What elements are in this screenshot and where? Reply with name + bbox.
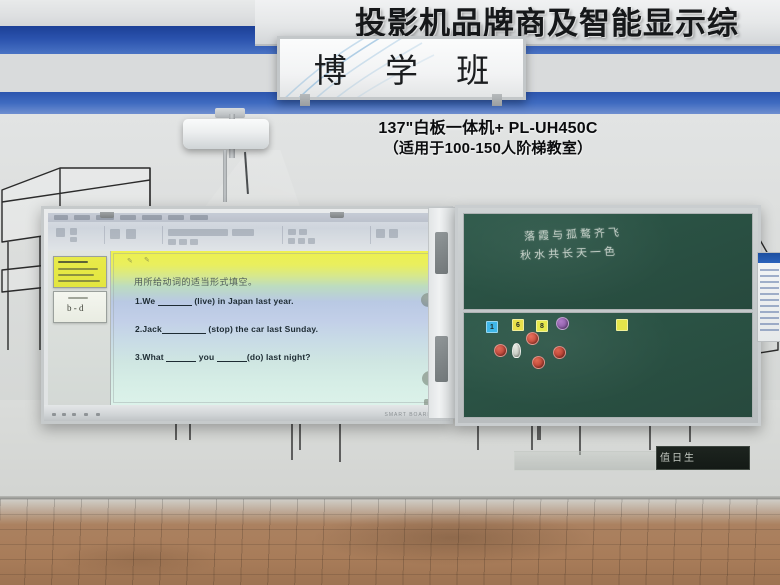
toolbar-copy-button[interactable]	[70, 237, 77, 242]
underline-button[interactable]	[190, 239, 198, 245]
whiteboard-bottom-bezel: SMART BOARD	[44, 405, 450, 421]
chalk-writing-line-2: 秋水共长天一色	[520, 243, 619, 263]
ceiling-projector: PROJECTOR	[183, 119, 269, 149]
q3-blank-2	[217, 353, 247, 362]
bullet-list-button[interactable]	[288, 229, 296, 235]
menu-item-insert[interactable]	[120, 215, 136, 220]
slide-thumbnail-2[interactable]: b - d	[53, 291, 107, 323]
control-panel-lower[interactable]	[435, 336, 448, 382]
board-indicator-2	[62, 413, 66, 416]
bold-button[interactable]	[168, 239, 176, 245]
slide-scribble-mark-2: ✎	[144, 256, 150, 264]
arrange-button[interactable]	[389, 229, 398, 238]
q2-pre: Jack	[142, 324, 162, 334]
class-name-sign: 博 学 班	[277, 36, 526, 100]
toolbar-newslide-button[interactable]	[110, 229, 120, 239]
numbered-list-button[interactable]	[299, 229, 307, 235]
shapes-button[interactable]	[376, 229, 385, 238]
menu-item-tools[interactable]	[168, 215, 184, 220]
slide-thumbnail-panel[interactable]: b - d	[48, 251, 111, 405]
align-center-button[interactable]	[298, 238, 305, 244]
duty-roster-text: 值日生	[660, 449, 696, 464]
chalkboard-tray	[514, 451, 656, 471]
magnet-apple-4[interactable]	[532, 356, 545, 369]
classroom-scene: 投影机品牌商及智能显示综 博 学 班 137"白板一体机+ PL-UH450C …	[0, 0, 780, 585]
align-right-button[interactable]	[308, 238, 315, 244]
slide-scribble-mark: ✎	[127, 257, 133, 265]
magnet-apple-1[interactable]	[526, 332, 539, 345]
menu-item-edit[interactable]	[74, 215, 90, 220]
whiteboard-screen[interactable]: b - d ✎ ✎ 用所给动词的适当形式填空。 1.We (live) in J…	[48, 213, 446, 405]
q1-pre: We	[142, 296, 157, 306]
chalkboard-lower-panel: 1 6 8 值日生	[463, 312, 753, 418]
toolbar-paste-button[interactable]	[56, 228, 65, 237]
whiteboard-wall-mount-right	[330, 212, 344, 218]
control-panel-upper[interactable]	[435, 232, 448, 274]
magnet-grape[interactable]	[556, 317, 569, 330]
slide-question-2: 2.Jack (stop) the car last Sunday.	[135, 324, 318, 334]
presentation-app-chrome	[48, 213, 446, 251]
product-application: （适用于100-150人阶梯教室）	[338, 139, 638, 158]
toolbar-layout-button[interactable]	[126, 229, 136, 239]
poster-header	[758, 253, 780, 263]
board-control-strip[interactable]	[428, 207, 456, 419]
slide-instruction: 用所给动词的适当形式填空。	[134, 275, 258, 288]
sign-leg-left	[300, 94, 310, 106]
q2-blank	[162, 325, 206, 334]
font-family-selector[interactable]	[168, 229, 228, 236]
presentation-slide[interactable]: ✎ ✎ 用所给动词的适当形式填空。 1.We (live) in Japan l…	[111, 251, 446, 405]
q1-blank	[158, 297, 192, 306]
classroom-chalkboard: 落霞与孤鹜齐飞 秋水共长天一色 1 6 8 值日生	[455, 205, 761, 426]
magnet-apple-3[interactable]	[553, 346, 566, 359]
magnet-blank-yellow[interactable]	[616, 319, 628, 331]
q2-mid: (stop) the car last Sunday.	[206, 324, 318, 334]
q3-pre: What	[142, 352, 166, 362]
board-indicator-4	[84, 413, 88, 416]
menu-item-format[interactable]	[142, 215, 162, 220]
product-model: 137"白板一体机+ PL-UH450C	[338, 119, 638, 139]
magnet-spoon[interactable]	[512, 343, 521, 358]
slide-question-3: 3.What you (do) last night?	[135, 352, 311, 362]
projector-support-pole	[223, 150, 227, 202]
italic-button[interactable]	[179, 239, 187, 245]
slide-thumbnail-1[interactable]	[53, 256, 107, 288]
q3-post: (do) last night?	[247, 352, 311, 362]
magnet-number-8[interactable]: 8	[536, 320, 548, 332]
slide-question-1: 1.We (live) in Japan last year.	[135, 296, 294, 306]
magnet-number-6[interactable]: 6	[512, 319, 524, 331]
menu-item-file[interactable]	[54, 215, 68, 220]
wall-schedule-poster	[757, 252, 780, 342]
magnet-apple-2[interactable]	[494, 344, 507, 357]
q3-mid: you	[196, 352, 217, 362]
font-size-selector[interactable]	[232, 229, 254, 236]
slide-thumbnail-2-glyph: b - d	[67, 303, 84, 313]
board-indicator-5	[96, 413, 100, 416]
tiled-floor	[0, 499, 780, 585]
whiteboard-brand-label: SMART BOARD	[385, 412, 433, 418]
interactive-whiteboard[interactable]: b - d ✎ ✎ 用所给动词的适当形式填空。 1.We (live) in J…	[41, 206, 453, 424]
chalkboard-upper-panel: 落霞与孤鹜齐飞 秋水共长天一色	[463, 213, 753, 310]
menu-item-slideshow[interactable]	[190, 215, 208, 220]
board-indicator-3	[72, 413, 76, 416]
q3-blank-1	[166, 353, 196, 362]
chalk-writing-line-1: 落霞与孤鹜齐飞	[524, 224, 623, 244]
align-left-button[interactable]	[288, 238, 295, 244]
whiteboard-wall-mount-left	[100, 212, 114, 218]
board-indicator-1	[52, 413, 56, 416]
sign-leg-right	[492, 94, 502, 106]
product-caption: 137"白板一体机+ PL-UH450C （适用于100-150人阶梯教室）	[338, 119, 638, 159]
toolbar-cut-button[interactable]	[70, 228, 77, 235]
class-name-text: 博 学 班	[299, 44, 505, 92]
q1-mid: (live) in Japan last year.	[192, 296, 294, 306]
magnet-number-1[interactable]: 1	[486, 321, 498, 333]
